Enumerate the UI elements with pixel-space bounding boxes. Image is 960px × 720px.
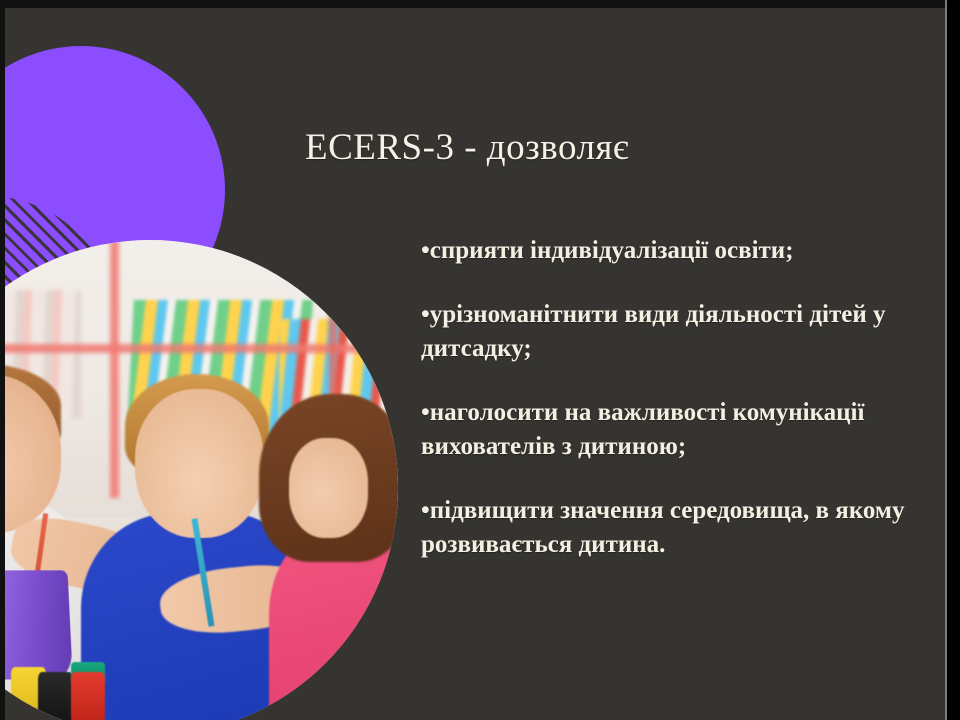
bullet-text: урізноманітнити види діяльності дітей у …	[421, 301, 886, 363]
bullet-item: •підвищити значення середовища, в якому …	[421, 494, 927, 563]
photo-paint-pot-black	[38, 672, 73, 720]
photo-content	[5, 240, 398, 720]
right-border	[947, 0, 960, 720]
bullet-text: наголосити на важливості комунікації вих…	[421, 399, 864, 461]
bullet-marker: •	[421, 301, 430, 328]
children-painting-photo	[5, 240, 398, 720]
bullet-marker: •	[421, 399, 430, 426]
presentation-slide: ECERS-3 - дозволяє •сприяти індивідуаліз…	[0, 0, 960, 720]
top-border	[0, 0, 960, 8]
photo-purple-cup	[5, 571, 73, 680]
photo-paint-pot-red	[71, 672, 106, 720]
bullet-list: •сприяти індивідуалізації освіти; •урізн…	[421, 234, 927, 563]
bullet-text: підвищити значення середовища, в якому р…	[421, 497, 904, 559]
slide-canvas: ECERS-3 - дозволяє •сприяти індивідуаліз…	[5, 8, 945, 720]
photo-child-middle-head	[135, 389, 264, 538]
bullet-item: •сприяти індивідуалізації освіти;	[421, 234, 927, 269]
bullet-marker: •	[421, 237, 430, 264]
bullet-text: сприяти індивідуалізації освіти;	[430, 237, 794, 264]
photo-red-shelf-vertical	[110, 240, 119, 498]
bullet-item: •наголосити на важливості комунікації ви…	[421, 396, 927, 465]
photo-red-shelf-horizontal	[5, 344, 398, 353]
left-border	[0, 0, 5, 720]
photo-child-right-face	[289, 438, 368, 537]
bullet-item: •урізноманітнити види діяльності дітей у…	[421, 298, 927, 367]
bullet-marker: •	[421, 497, 430, 524]
slide-title: ECERS-3 - дозволяє	[305, 126, 629, 169]
